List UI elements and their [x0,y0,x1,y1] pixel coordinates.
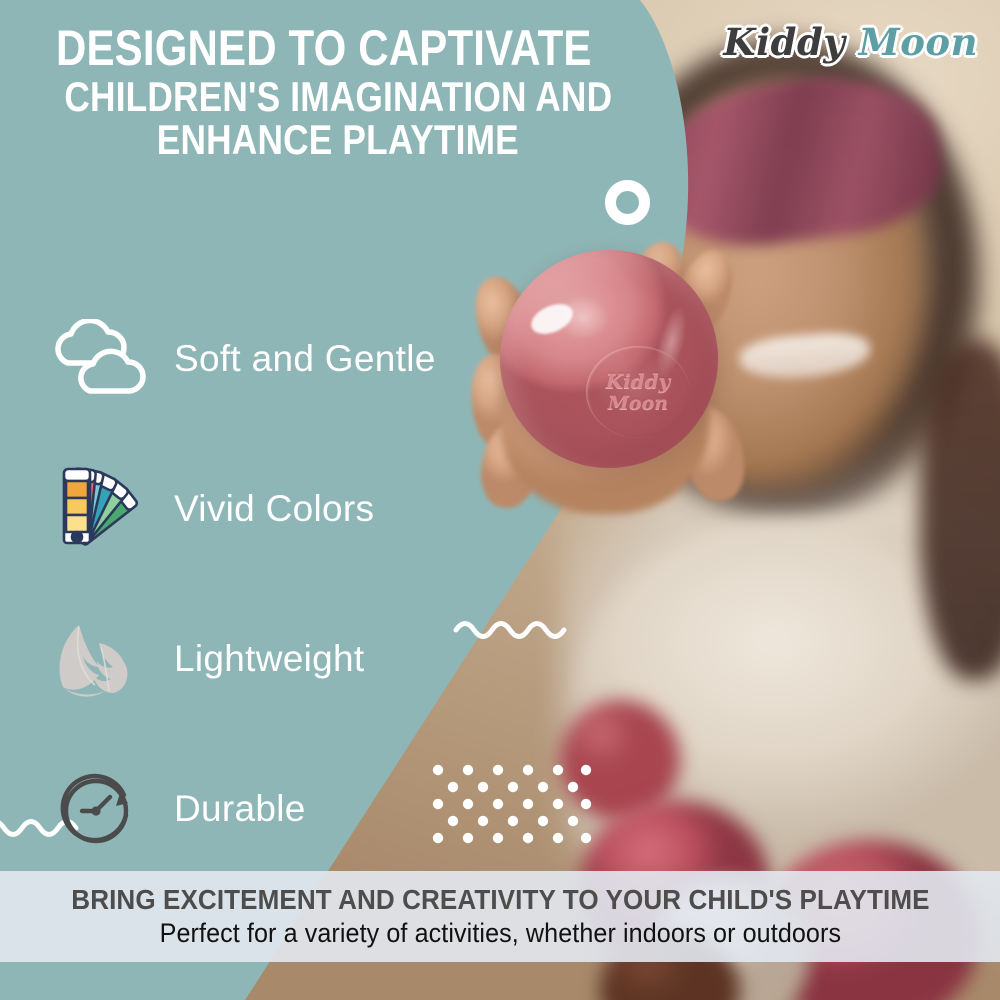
color-swatch-fan-icon [44,461,152,557]
brand-logo: Kiddy Moon [723,20,978,64]
feature-list: Soft and Gentle [44,284,514,884]
bottom-banner: BRING EXCITEMENT AND CREATIVITY TO YOUR … [0,871,1000,962]
promo-graphic-root: DESIGNED TO CAPTIVATE CHILDREN'S IMAGINA… [0,0,1000,1000]
banner-subline: Perfect for a variety of activities, whe… [159,918,840,949]
headline-line-3: ENHANCE PLAYTIME [56,120,526,161]
ball-emboss-line-2: Moon [608,394,668,413]
product-ball: Kiddy Moon [500,250,718,468]
feather-icon [44,611,152,707]
brand-logo-word-moon: Moon [859,20,978,64]
circle-outline-icon [605,180,650,225]
feature-item-vivid-colors: Vivid Colors [44,434,514,584]
brand-logo-word-kiddy: Kiddy [723,20,845,64]
clock-arrow-icon [44,761,152,857]
ball-emboss-line-1: Kiddy [606,371,671,391]
ball-embossed-logo: Kiddy Moon [586,346,690,438]
feature-item-durable: Durable [44,734,514,884]
feature-label: Durable [174,788,306,830]
headline-line-2: CHILDREN'S IMAGINATION AND [56,77,526,118]
feature-item-soft-and-gentle: Soft and Gentle [44,284,514,434]
feature-item-lightweight: Lightweight [44,584,514,734]
feature-label: Lightweight [174,638,365,680]
clouds-icon [44,311,152,407]
headline-line-1: DESIGNED TO CAPTIVATE [56,24,526,73]
photo-child-braid [920,340,1000,680]
banner-headline: BRING EXCITEMENT AND CREATIVITY TO YOUR … [71,884,929,916]
hand-holding-ball: Kiddy Moon [470,228,750,518]
feature-label: Soft and Gentle [174,338,436,380]
page-title: DESIGNED TO CAPTIVATE CHILDREN'S IMAGINA… [56,24,616,161]
feature-label: Vivid Colors [174,488,374,530]
